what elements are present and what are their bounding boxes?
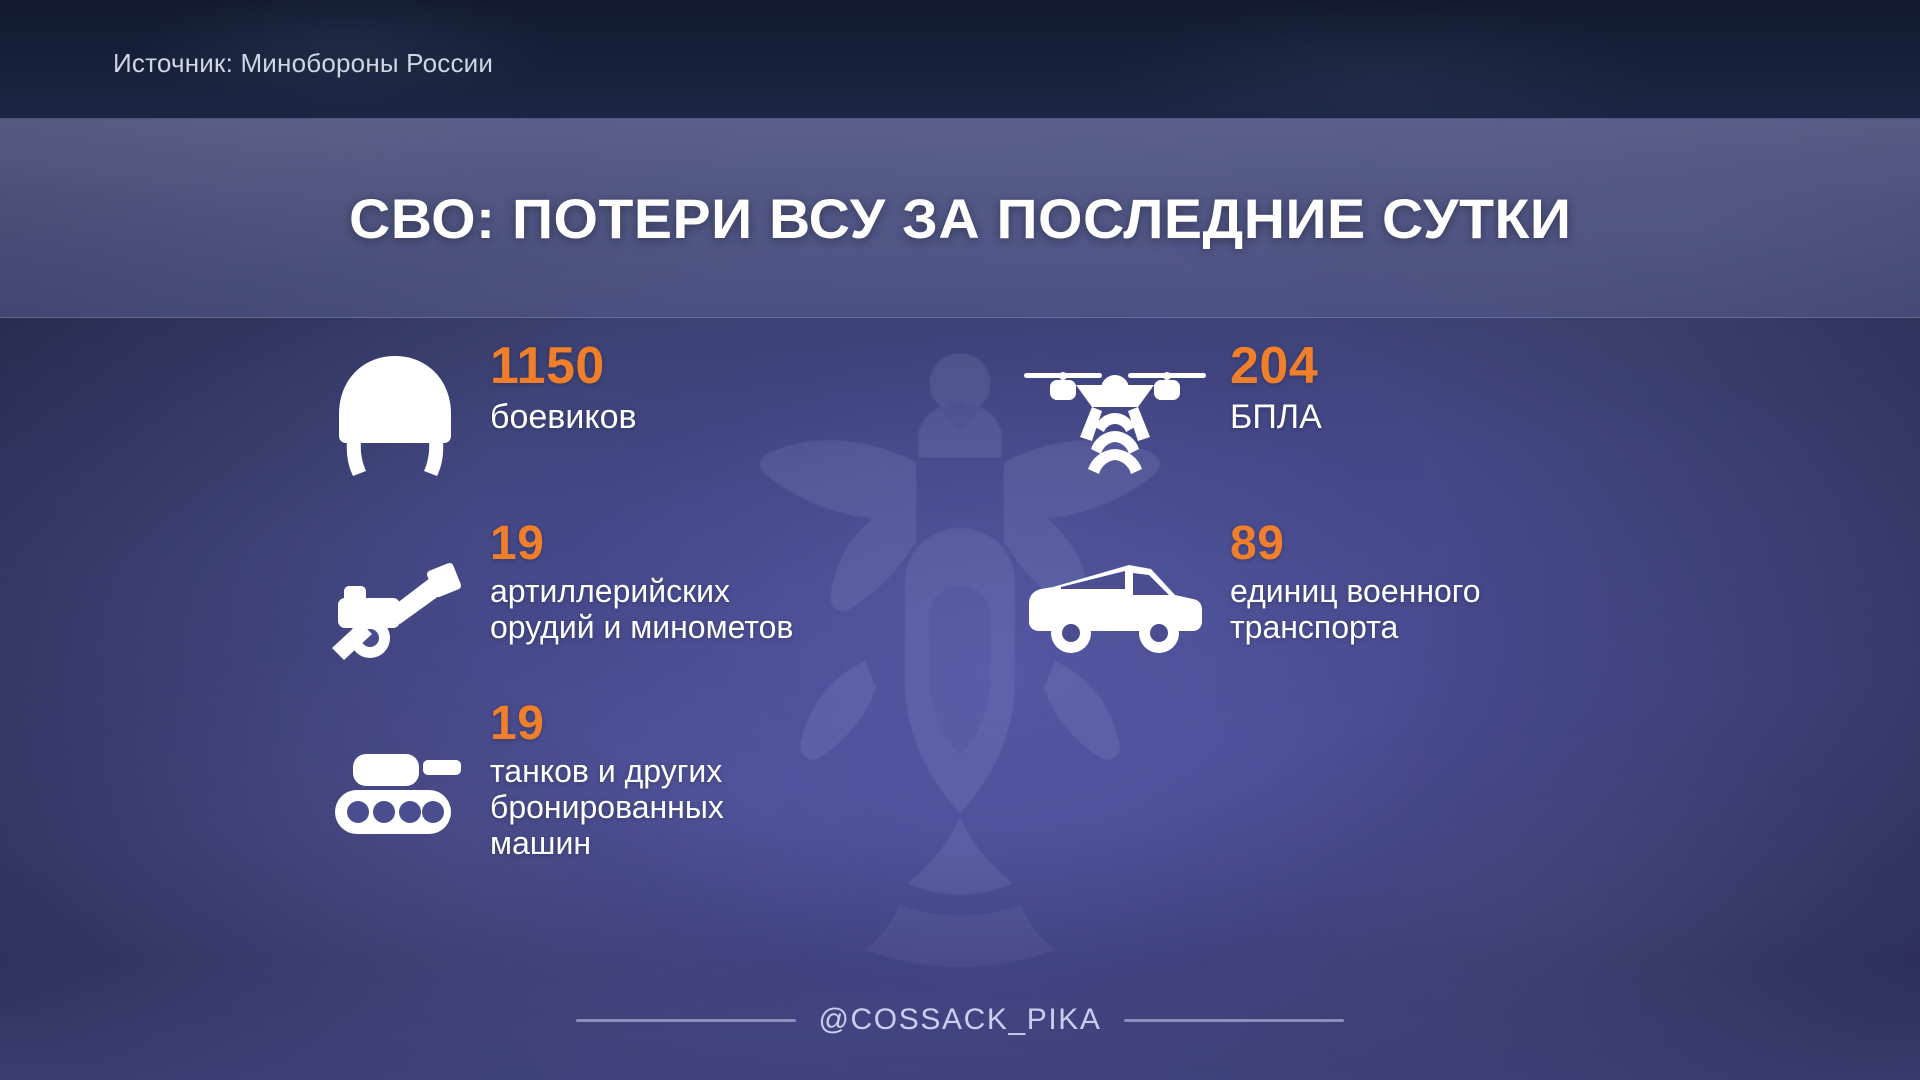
stat-text-personnel: 1150 боевиков (490, 340, 920, 436)
stat-value-artillery: 19 (490, 520, 940, 568)
stat-text-armor: 19 танков и других бронированных машин (490, 700, 940, 861)
title-band: СВО: ПОТЕРИ ВСУ ЗА ПОСЛЕДНИЕ СУТКИ (0, 118, 1920, 318)
drone-icon (1000, 340, 1230, 490)
stat-label-armor: танков и других бронированных машин (490, 754, 940, 861)
tank-icon (300, 722, 490, 862)
stat-label-uav: БПЛА (1230, 398, 1620, 436)
footer-bar: @COSSACK_PIKA (0, 960, 1920, 1080)
page-title: СВО: ПОТЕРИ ВСУ ЗА ПОСЛЕДНИЕ СУТКИ (349, 186, 1571, 251)
stat-item-artillery: 19 артиллерийских орудий и минометов (300, 520, 940, 678)
stat-label-transport: единиц военного транспорта (1230, 574, 1640, 646)
source-strip: Источник: Минобороны России (0, 0, 1920, 118)
stats-grid: 1150 боевиков (0, 330, 1920, 960)
artillery-cannon-icon (300, 538, 490, 678)
stat-text-uav: 204 БПЛА (1230, 340, 1620, 436)
stat-text-transport: 89 единиц военного транспорта (1230, 520, 1640, 646)
stat-item-uav: 204 БПЛА (1000, 340, 1620, 490)
stat-value-transport: 89 (1230, 520, 1640, 568)
stat-label-personnel: боевиков (490, 398, 920, 436)
military-vehicle-icon (1000, 534, 1230, 674)
stat-item-personnel: 1150 боевиков (300, 340, 920, 490)
footer-rule-right (1124, 1019, 1344, 1022)
stat-text-artillery: 19 артиллерийских орудий и минометов (490, 520, 940, 646)
stat-item-transport: 89 единиц военного транспорта (1000, 520, 1640, 674)
helmet-icon (300, 340, 490, 490)
source-label: Источник: Минобороны России (113, 48, 493, 79)
stat-label-artillery: артиллерийских орудий и минометов (490, 574, 940, 646)
footer-rule-left (576, 1019, 796, 1022)
channel-handle: @COSSACK_PIKA (818, 1003, 1101, 1037)
stat-value-uav: 204 (1230, 340, 1620, 392)
stat-item-armor: 19 танков и других бронированных машин (300, 700, 940, 862)
stat-value-armor: 19 (490, 700, 940, 748)
infographic-poster: Источник: Минобороны России СВО: ПОТЕРИ … (0, 0, 1920, 1080)
stat-value-personnel: 1150 (490, 340, 920, 392)
